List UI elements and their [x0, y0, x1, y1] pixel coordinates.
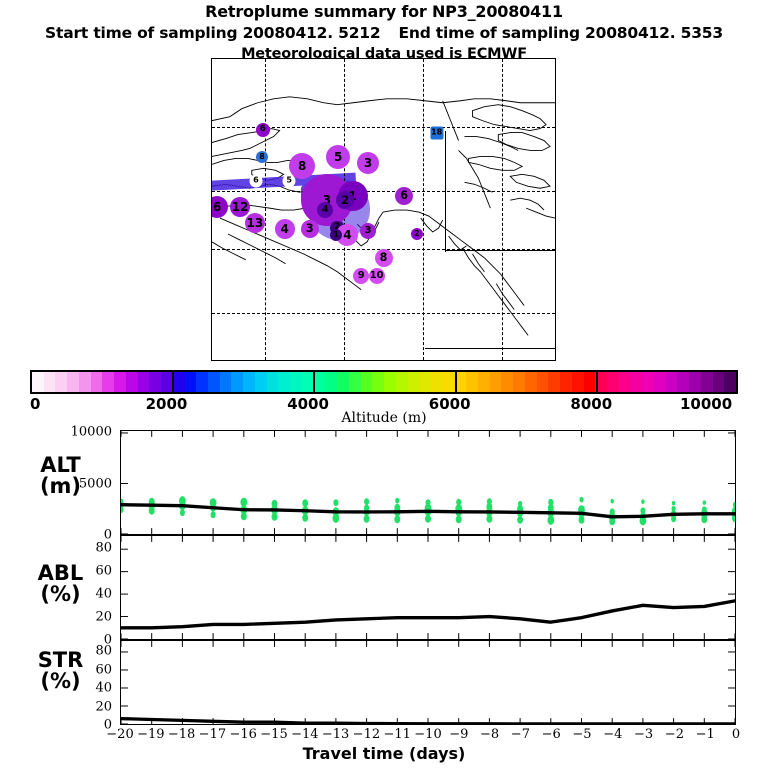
colorbar-swatch-26 — [337, 372, 349, 392]
colorbar-swatch-50 — [619, 372, 631, 392]
colorbar-division — [455, 370, 457, 394]
colorbar-swatch-56 — [689, 372, 701, 392]
colorbar-swatch-44 — [548, 372, 560, 392]
x-tick-label: −16 — [229, 727, 256, 742]
alt-scatter-point — [703, 500, 706, 505]
colorbar-swatch-9 — [138, 372, 150, 392]
colorbar-swatch-20 — [267, 372, 279, 392]
abl-y-tick-label: 20 — [56, 610, 112, 625]
colorbar-swatch-12 — [173, 372, 185, 392]
map-marker-6-2[interactable]: 6 — [249, 174, 262, 187]
colorbar-swatch-33 — [419, 372, 431, 392]
colorbar-swatch-58 — [713, 372, 725, 392]
alt-scatter-point — [701, 515, 707, 523]
x-tick-label: −10 — [414, 727, 441, 742]
map-gridline-v — [423, 59, 424, 360]
map-marker-8-7[interactable]: 8 — [289, 153, 315, 179]
map-marker-6-0[interactable]: 6 — [256, 123, 270, 137]
colorbar-swatch-18 — [243, 372, 255, 392]
x-tick-label: −15 — [260, 727, 287, 742]
map-gridline-h — [212, 313, 555, 314]
page-title: Retroplume summary for NP3_20080411 — [0, 2, 768, 21]
alt-scatter-point — [241, 512, 247, 520]
colorbar-title: Altitude (m) — [0, 410, 768, 426]
alt-scatter-point — [149, 507, 155, 515]
x-tick-label: −4 — [603, 727, 622, 742]
x-tick-label: −11 — [383, 727, 410, 742]
map-marker-1-19[interactable]: 1 — [330, 229, 342, 241]
colorbar-swatch-10 — [149, 372, 161, 392]
alt-scatter-point — [395, 498, 399, 504]
x-tick-label: −2 — [665, 727, 684, 742]
map-marker-8-22[interactable]: 8 — [375, 249, 393, 267]
x-tick-label: 0 — [732, 727, 740, 742]
colorbar-swatch-7 — [114, 372, 126, 392]
colorbar-division — [313, 370, 315, 394]
colorbar-swatch-45 — [560, 372, 572, 392]
abl-trend-line — [121, 601, 735, 628]
colorbar-swatch-37 — [466, 372, 478, 392]
colorbar-swatch-46 — [572, 372, 584, 392]
x-axis-title: Travel time (days) — [0, 744, 768, 763]
map-marker-4-15[interactable]: 4 — [275, 219, 295, 239]
colorbar-swatch-14 — [196, 372, 208, 392]
alt-scatter-point — [302, 514, 308, 522]
colorbar-swatch-1 — [44, 372, 56, 392]
alt-scatter-point — [609, 517, 615, 525]
map-marker-10-24[interactable]: 10 — [369, 268, 385, 284]
alt-y-tick-label: 5000 — [56, 476, 112, 491]
x-tick-label: −9 — [449, 727, 468, 742]
colorbar-division — [596, 370, 598, 394]
alt-scatter-point — [333, 514, 340, 523]
map-inner: 686561213853312464324132891018 — [212, 59, 555, 360]
colorbar-swatch-0 — [32, 372, 44, 392]
x-tick-label: −18 — [168, 727, 195, 742]
alt-scatter-point — [517, 516, 523, 524]
alt-scatter-point — [211, 511, 216, 518]
map-marker-13-6[interactable]: 13 — [245, 213, 265, 233]
alt-scatter-point — [733, 502, 735, 508]
alt-scatter-point — [333, 499, 338, 506]
end-time-label: End time of sampling 20080412. 5353 — [398, 24, 722, 42]
alt-scatter-point — [364, 498, 369, 505]
colorbar-swatch-15 — [208, 372, 220, 392]
colorbar-swatch-54 — [666, 372, 678, 392]
start-time-label: Start time of sampling 20080412. 5212 — [45, 24, 380, 42]
colorbar-swatch-5 — [91, 372, 103, 392]
colorbar-swatch-13 — [185, 372, 197, 392]
x-tick-label: −19 — [137, 727, 164, 742]
colorbar-swatch-38 — [478, 372, 490, 392]
map-gridline-v — [502, 59, 503, 360]
map-marker-8-1[interactable]: 8 — [256, 151, 268, 163]
colorbar-swatch-6 — [102, 372, 114, 392]
str-chart[interactable] — [120, 640, 736, 725]
x-tick-label: −13 — [322, 727, 349, 742]
map-gridline-v — [265, 59, 266, 360]
colorbar-swatch-49 — [607, 372, 619, 392]
alt-scatter-point — [579, 516, 585, 524]
map-marker-6-14[interactable]: 6 — [395, 187, 413, 205]
str-y-tick-label: 40 — [56, 681, 112, 696]
alt-scatter-point — [364, 515, 370, 523]
colorbar-swatch-32 — [408, 372, 420, 392]
colorbar-swatch-19 — [255, 372, 267, 392]
colorbar-swatch-55 — [677, 372, 689, 392]
map-marker-12-5[interactable]: 12 — [230, 197, 250, 217]
x-tick-label: −1 — [696, 727, 715, 742]
map-marker-5-8[interactable]: 5 — [326, 145, 350, 169]
colorbar-swatch-24 — [314, 372, 326, 392]
colorbar-swatch-17 — [231, 372, 243, 392]
map-border-line — [445, 131, 446, 251]
colorbar-swatch-3 — [67, 372, 79, 392]
x-tick-label: −12 — [353, 727, 380, 742]
colorbar-swatch-8 — [126, 372, 138, 392]
x-tick-label: −7 — [511, 727, 530, 742]
alt-scatter-point — [456, 515, 462, 523]
colorbar-swatch-57 — [701, 372, 713, 392]
colorbar-swatch-30 — [384, 372, 396, 392]
map-marker-3-20[interactable]: 3 — [360, 223, 376, 239]
colorbar-division — [172, 370, 174, 394]
alt-scatter-point — [579, 497, 583, 503]
abl-plot-area — [121, 536, 735, 639]
map-marker-2-21[interactable]: 2 — [411, 228, 423, 240]
abl-y-tick-label: 80 — [56, 541, 112, 556]
colorbar-swatch-31 — [396, 372, 408, 392]
colorbar-swatch-4 — [79, 372, 91, 392]
x-tick-label: −20 — [106, 727, 133, 742]
colorbar-swatch-34 — [431, 372, 443, 392]
colorbar-swatch-23 — [302, 372, 314, 392]
colorbar-swatch-39 — [490, 372, 502, 392]
x-tick-label: −6 — [542, 727, 561, 742]
alt-scatter-point — [547, 516, 554, 525]
map-border-line — [425, 348, 555, 349]
map-marker-9-23[interactable]: 9 — [353, 268, 369, 284]
colorbar-swatch-21 — [278, 372, 290, 392]
colorbar-swatch-51 — [630, 372, 642, 392]
colorbar-swatch-52 — [642, 372, 654, 392]
map-marker-3-16[interactable]: 3 — [301, 220, 319, 238]
abl-y-tick-label: 60 — [56, 564, 112, 579]
sampling-time-line: Start time of sampling 20080412. 5212End… — [0, 24, 768, 42]
map-marker-3-9[interactable]: 3 — [357, 152, 379, 174]
map-marker-2-12[interactable]: 2 — [336, 191, 354, 209]
x-tick-label: −5 — [572, 727, 591, 742]
x-tick-label: −17 — [199, 727, 226, 742]
alt-chart[interactable] — [120, 430, 736, 535]
colorbar-swatch-53 — [654, 372, 666, 392]
x-tick-label: −14 — [291, 727, 318, 742]
x-tick-label: −3 — [634, 727, 653, 742]
x-tick-label: −8 — [480, 727, 499, 742]
str-plot-area — [121, 641, 735, 724]
abl-chart[interactable] — [120, 535, 736, 640]
colorbar-swatch-43 — [537, 372, 549, 392]
abl-y-tick-label: 40 — [56, 587, 112, 602]
altitude-colorbar — [30, 370, 738, 394]
colorbar-swatch-16 — [220, 372, 232, 392]
alt-scatter-point — [425, 515, 431, 523]
colorbar-swatch-25 — [325, 372, 337, 392]
alt-scatter-point — [272, 513, 278, 521]
colorbar-swatch-59 — [724, 372, 736, 392]
str-y-tick-label: 80 — [56, 644, 112, 659]
map-marker-18-25[interactable]: 18 — [430, 126, 443, 139]
colorbar-swatch-28 — [361, 372, 373, 392]
alt-plot-area — [121, 431, 735, 534]
map-gridline-h — [212, 191, 555, 192]
colorbar-swatch-41 — [513, 372, 525, 392]
retroplume-map[interactable]: 686561213853312464324132891018 — [211, 58, 556, 361]
x-axis-ticks: −20−19−18−17−16−15−14−13−12−11−10−9−8−7−… — [0, 727, 768, 743]
colorbar-swatch-27 — [349, 372, 361, 392]
alt-scatter-point — [641, 499, 644, 504]
colorbar-swatch-29 — [372, 372, 384, 392]
alt-scatter-point — [611, 499, 614, 504]
alt-scatter-point — [486, 515, 492, 523]
str-y-tick-label: 60 — [56, 662, 112, 677]
alt-scatter-point — [394, 515, 400, 523]
alt-scatter-point — [672, 501, 675, 506]
colorbar-swatch-42 — [525, 372, 537, 392]
coastline-layer — [212, 59, 555, 360]
alt-scatter-point — [671, 515, 676, 522]
alt-scatter-point — [180, 509, 185, 516]
str-y-tick-label: 20 — [56, 699, 112, 714]
map-border-line — [445, 250, 555, 251]
colorbar-swatch-22 — [290, 372, 302, 392]
alt-scatter-point — [302, 499, 308, 507]
map-marker-4-13[interactable]: 4 — [317, 202, 333, 218]
alt-y-tick-label: 10000 — [56, 425, 112, 440]
colorbar-swatch-47 — [584, 372, 596, 392]
colorbar-swatch-2 — [55, 372, 67, 392]
colorbar-swatch-35 — [443, 372, 455, 392]
colorbar-swatch-40 — [501, 372, 513, 392]
